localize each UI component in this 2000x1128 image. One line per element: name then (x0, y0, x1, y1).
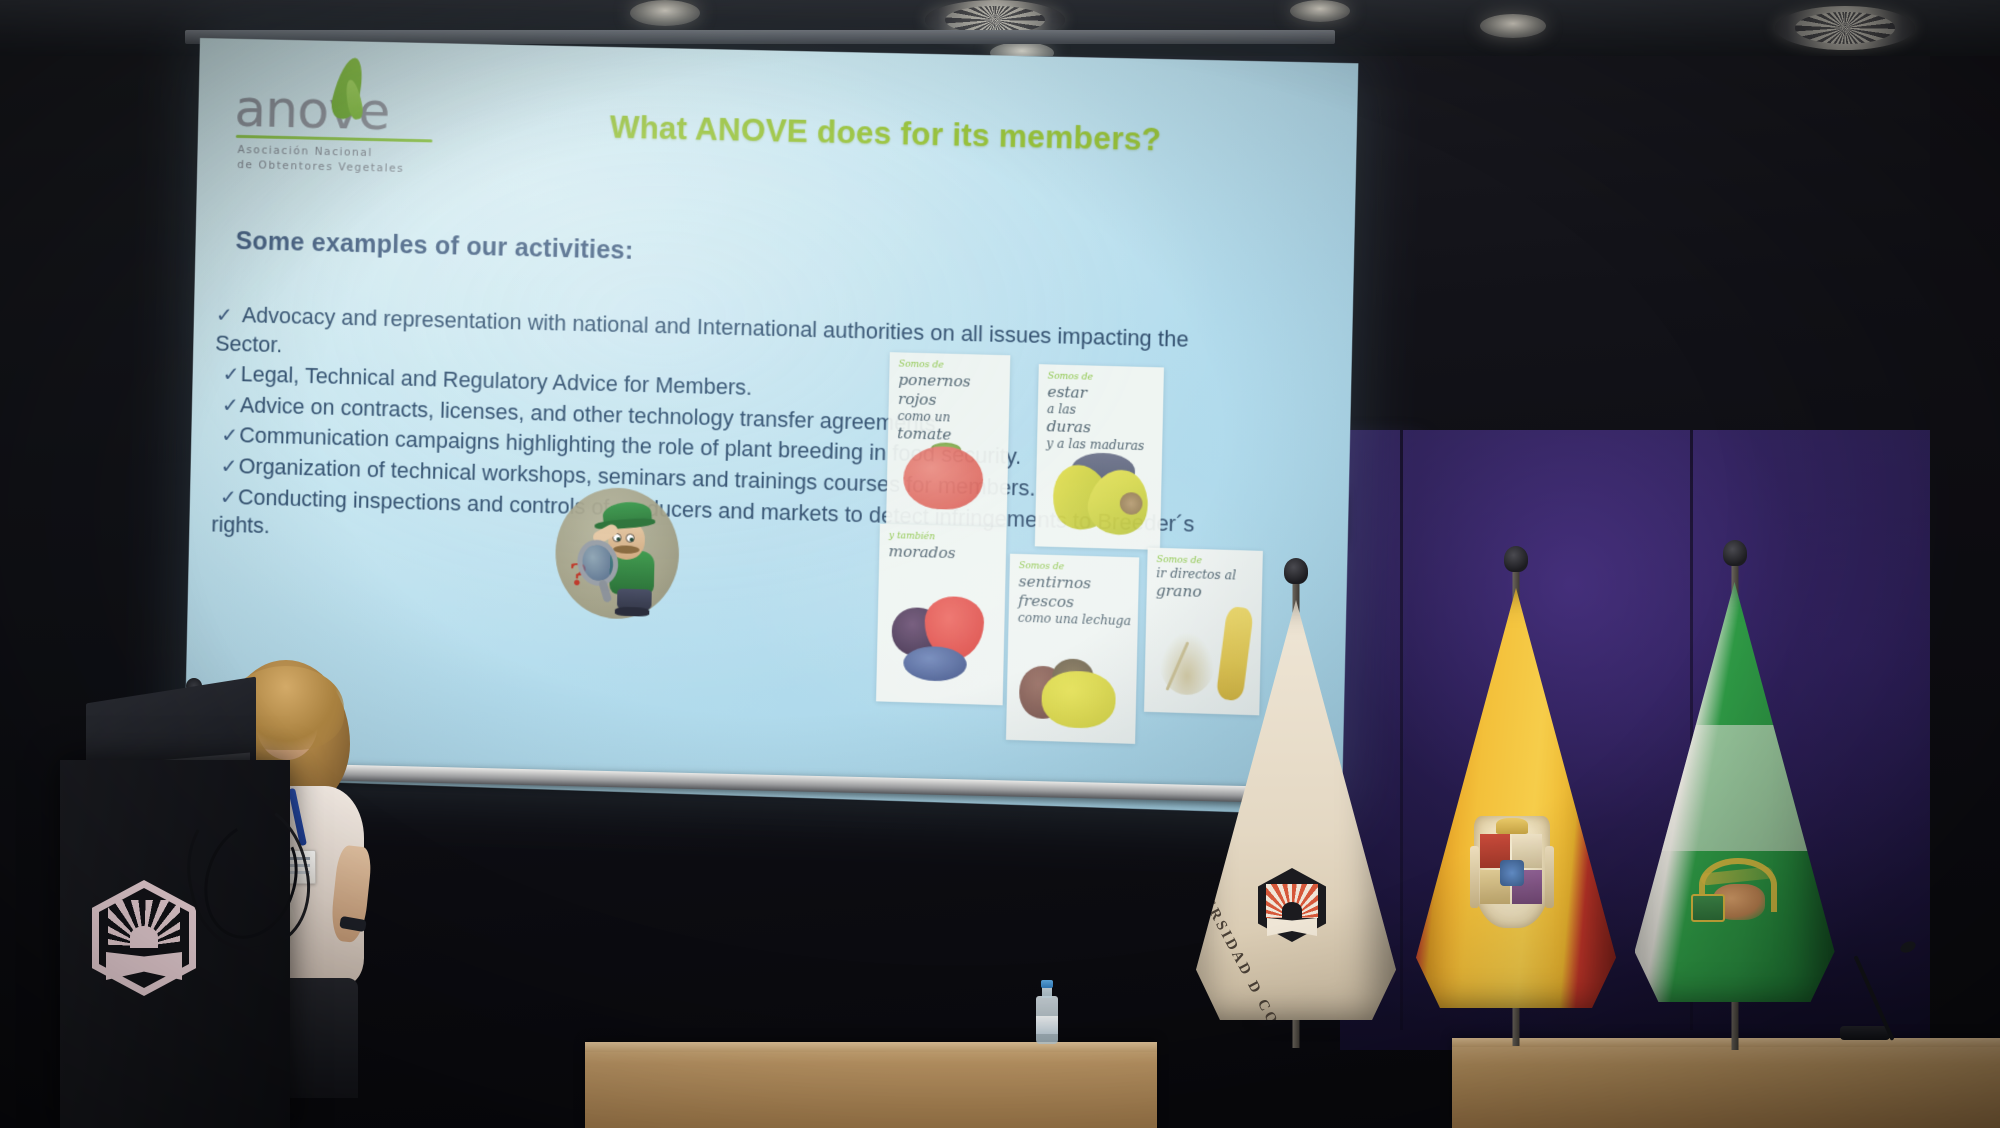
crown-icon (1496, 818, 1528, 834)
flag-finial (1284, 558, 1308, 584)
checkmark-icon: ✓ (212, 453, 239, 480)
flag-cloth (1635, 582, 1835, 1002)
list-item-text: Advocacy and representation with nationa… (215, 303, 1189, 357)
ceiling-light (1480, 14, 1546, 38)
checkmark-icon: ✓ (216, 302, 243, 329)
detective-mustache (613, 545, 639, 554)
detective-pupil (616, 537, 620, 541)
right-wall (1930, 56, 2000, 1056)
poster-tail2: y a las maduras (1046, 436, 1144, 453)
poster-lettuce-text: Somos de sentirnos frescos como una lech… (1018, 561, 1133, 629)
checkmark-icon: ✓ (213, 423, 240, 450)
slide-subtitle: Some examples of our activities: (235, 227, 633, 266)
sun-dome-icon (1282, 902, 1302, 918)
poster-berries-text: y también morados (888, 531, 1000, 565)
bottle-label (1036, 1016, 1058, 1034)
detective-illustration: ? (554, 486, 680, 620)
panel-table (1452, 1038, 2000, 1128)
table-microphone-base (1840, 1026, 1890, 1040)
poster-tail2: lechuga (1082, 612, 1132, 628)
anove-logo: anove Asociación Nacional de Obtentores … (234, 85, 441, 139)
flag-spain (1416, 566, 1616, 1046)
water-bottle (1036, 980, 1058, 1044)
detective-shoes (615, 607, 650, 617)
vent-grille (1795, 12, 1896, 44)
arms-escutcheon (1500, 860, 1524, 886)
flag-cloth (1416, 588, 1616, 1008)
conference-hall-scene: anove Asociación Nacional de Obtentores … (0, 0, 2000, 1128)
ceiling-vent (1775, 6, 1915, 50)
pillar-of-hercules (1470, 846, 1479, 908)
checkmark-icon: ✓ (214, 392, 241, 419)
detective-eye (626, 533, 635, 542)
flag-finial (1504, 546, 1528, 572)
poster-lettuce: Somos de sentirnos frescos como una lech… (1006, 554, 1139, 744)
poster-avocado-text: Somos de estar a las duras y a las madur… (1046, 371, 1158, 454)
center-table (585, 1042, 1157, 1128)
checkmark-icon: ✓ (212, 484, 239, 511)
flag-white-band (1635, 725, 1835, 851)
poster-tail: como una (1018, 610, 1079, 626)
flag-cloth: UNIVERSIDAD D CORDOBA (1196, 600, 1396, 1020)
sun-dome-icon (130, 926, 158, 948)
poster-berries: y también morados (876, 524, 1007, 706)
tomato-illustration (903, 446, 984, 511)
center-table-edge (585, 1042, 1157, 1052)
poster-avocado: Somos de estar a las duras y a las madur… (1035, 364, 1164, 550)
pillar-of-hercules (1545, 846, 1554, 908)
checkmark-icon: ✓ (214, 362, 241, 389)
ceiling-light (1290, 0, 1350, 22)
universidad-de-cordoba-logo (92, 880, 196, 996)
flag-universidad-de-cordoba: UNIVERSIDAD D CORDOBA (1196, 578, 1396, 1048)
slide-title: What ANOVE does for its members? (499, 107, 1275, 161)
flag-andalucia (1632, 560, 1837, 1050)
lion-shield-icon (1691, 894, 1725, 922)
poster-tomato-text: Somos de ponernos rojos como un tomate (897, 359, 1004, 445)
andalucia-coat-of-arms (1689, 858, 1785, 932)
ceiling-light (630, 0, 700, 26)
poster-tomato: Somos de ponernos rojos como un tomate (886, 352, 1010, 527)
lettuce-illustration (1041, 670, 1116, 729)
anove-tagline: Asociación Nacional de Obtentores Vegeta… (237, 143, 438, 178)
flag-finial (1723, 540, 1747, 566)
poster-main: morados (888, 542, 1000, 564)
universidad-de-cordoba-emblem (1258, 868, 1326, 942)
detective-pupil (630, 538, 634, 542)
wall-panel-seam (1400, 430, 1403, 1030)
poster-main2: a las (1047, 402, 1076, 417)
bottle-cap (1041, 980, 1053, 988)
poster-tail: como un (897, 409, 950, 425)
spain-coat-of-arms (1474, 816, 1550, 928)
